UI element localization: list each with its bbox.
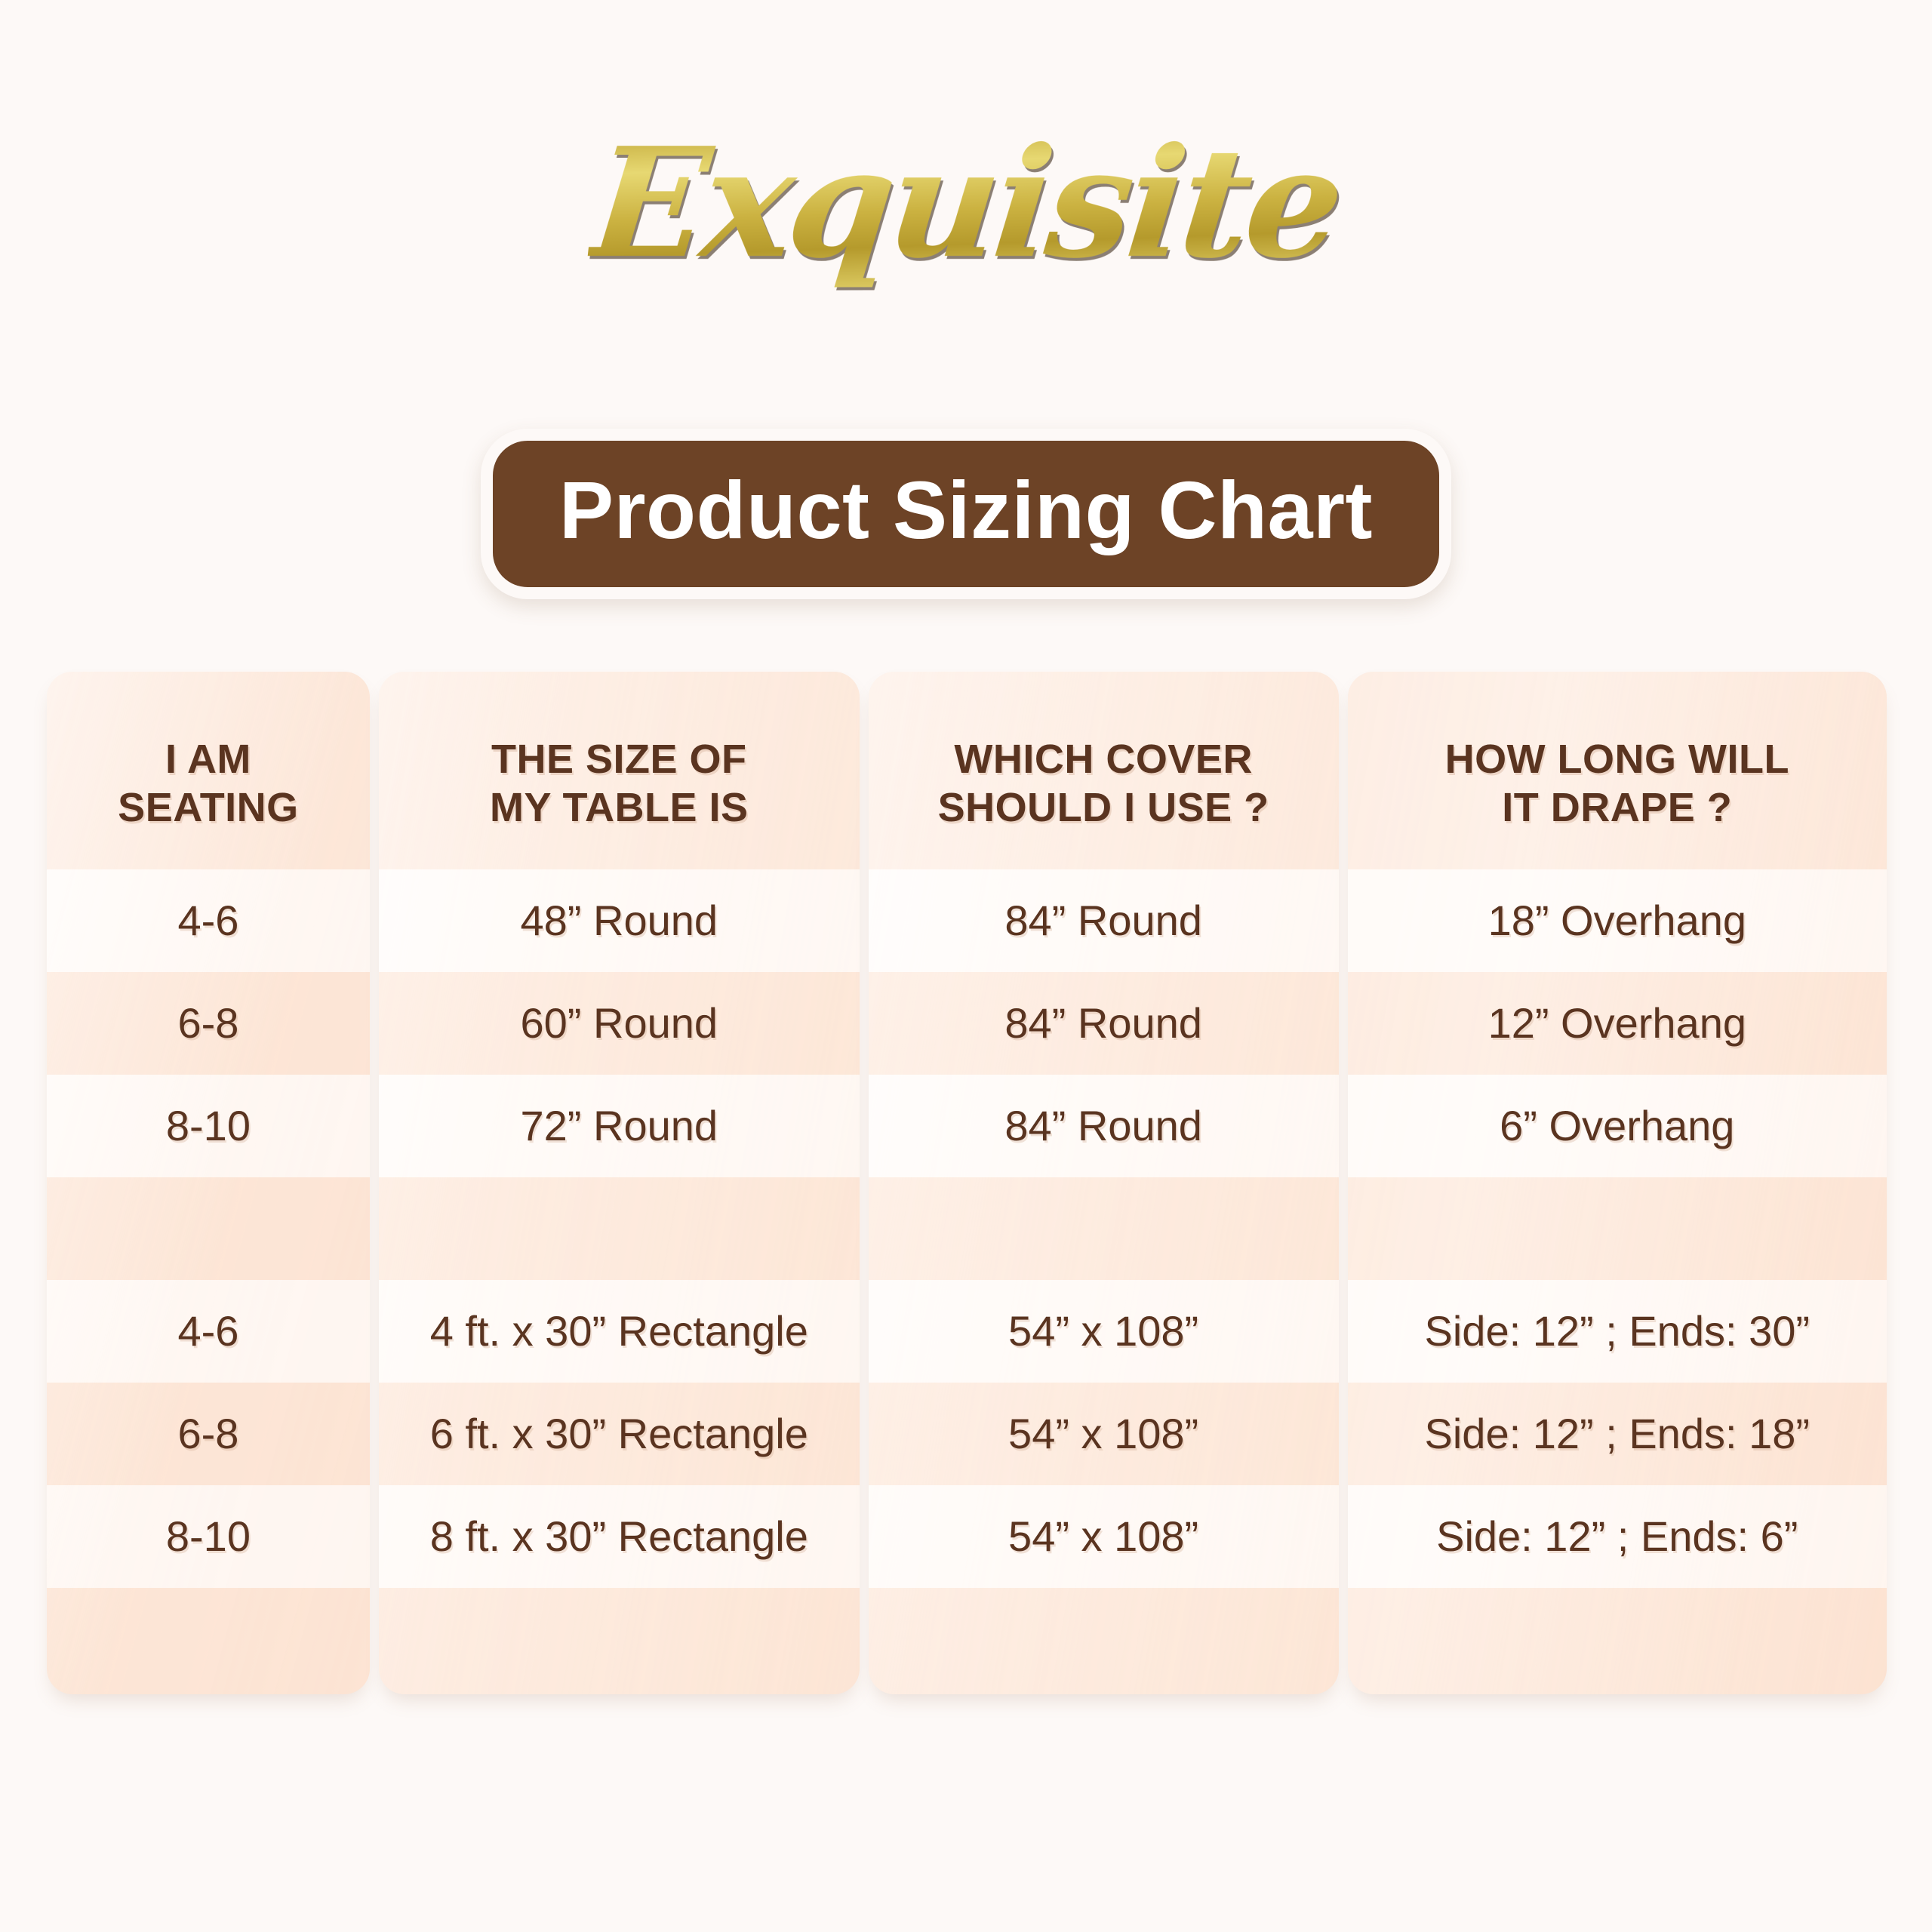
table-column-table-size: THE SIZE OF MY TABLE IS 48” Round 60” Ro… <box>379 672 860 1694</box>
table-cell: 4-6 <box>47 1280 370 1383</box>
table-cell: 12” Overhang <box>1348 972 1887 1075</box>
column-header-seating: I AM SEATING <box>47 672 370 869</box>
column-header-line2: SEATING <box>118 784 299 832</box>
table-column-footer <box>1348 1588 1887 1694</box>
column-header-drape: HOW LONG WILL IT DRAPE ? <box>1348 672 1887 869</box>
brand-logo: Exquisite <box>0 91 1932 340</box>
table-cell: 60” Round <box>379 972 860 1075</box>
column-header-line1: WHICH COVER <box>938 736 1269 784</box>
table-column-footer <box>47 1588 370 1694</box>
table-cell: 6 ft. x 30” Rectangle <box>379 1383 860 1485</box>
table-column-drape: HOW LONG WILL IT DRAPE ? 18” Overhang 12… <box>1348 672 1887 1694</box>
table-cell: 48” Round <box>379 869 860 972</box>
table-cell: 8-10 <box>47 1075 370 1177</box>
table-cell: 4-6 <box>47 869 370 972</box>
column-header-line1: THE SIZE OF <box>490 736 749 784</box>
table-cell: 18” Overhang <box>1348 869 1887 972</box>
table-cell: Side: 12” ; Ends: 18” <box>1348 1383 1887 1485</box>
table-spacer-row <box>869 1177 1339 1280</box>
table-cell: 6-8 <box>47 972 370 1075</box>
column-header-line2: IT DRAPE ? <box>1445 784 1789 832</box>
page-title: Product Sizing Chart <box>481 429 1451 599</box>
column-header-table-size: THE SIZE OF MY TABLE IS <box>379 672 860 869</box>
table-spacer-row <box>379 1177 860 1280</box>
table-cell: Side: 12” ; Ends: 30” <box>1348 1280 1887 1383</box>
table-cell: 72” Round <box>379 1075 860 1177</box>
table-cell: 84” Round <box>869 1075 1339 1177</box>
table-cell: 6-8 <box>47 1383 370 1485</box>
brand-logo-text: Exquisite <box>582 91 1351 317</box>
table-cell: 54” x 108” <box>869 1280 1339 1383</box>
page-title-container: Product Sizing Chart <box>0 429 1932 599</box>
table-cell: 4 ft. x 30” Rectangle <box>379 1280 860 1383</box>
table-column-footer <box>869 1588 1339 1694</box>
table-column-seating: I AM SEATING 4-6 6-8 8-10 4-6 6-8 8-10 <box>47 672 370 1694</box>
column-header-cover: WHICH COVER SHOULD I USE ? <box>869 672 1339 869</box>
table-cell: 54” x 108” <box>869 1485 1339 1588</box>
table-column-cover: WHICH COVER SHOULD I USE ? 84” Round 84”… <box>869 672 1339 1694</box>
sizing-chart-table: I AM SEATING 4-6 6-8 8-10 4-6 6-8 8-10 T… <box>47 672 1887 1694</box>
table-cell: 8-10 <box>47 1485 370 1588</box>
table-spacer-row <box>47 1177 370 1280</box>
column-header-line1: HOW LONG WILL <box>1445 736 1789 784</box>
column-header-line1: I AM <box>118 736 299 784</box>
table-cell: 84” Round <box>869 972 1339 1075</box>
table-cell: 54” x 108” <box>869 1383 1339 1485</box>
table-spacer-row <box>1348 1177 1887 1280</box>
column-header-line2: MY TABLE IS <box>490 784 749 832</box>
table-cell: 84” Round <box>869 869 1339 972</box>
column-header-line2: SHOULD I USE ? <box>938 784 1269 832</box>
table-cell: Side: 12” ; Ends: 6” <box>1348 1485 1887 1588</box>
table-cell: 6” Overhang <box>1348 1075 1887 1177</box>
table-cell: 8 ft. x 30” Rectangle <box>379 1485 860 1588</box>
table-column-footer <box>379 1588 860 1694</box>
